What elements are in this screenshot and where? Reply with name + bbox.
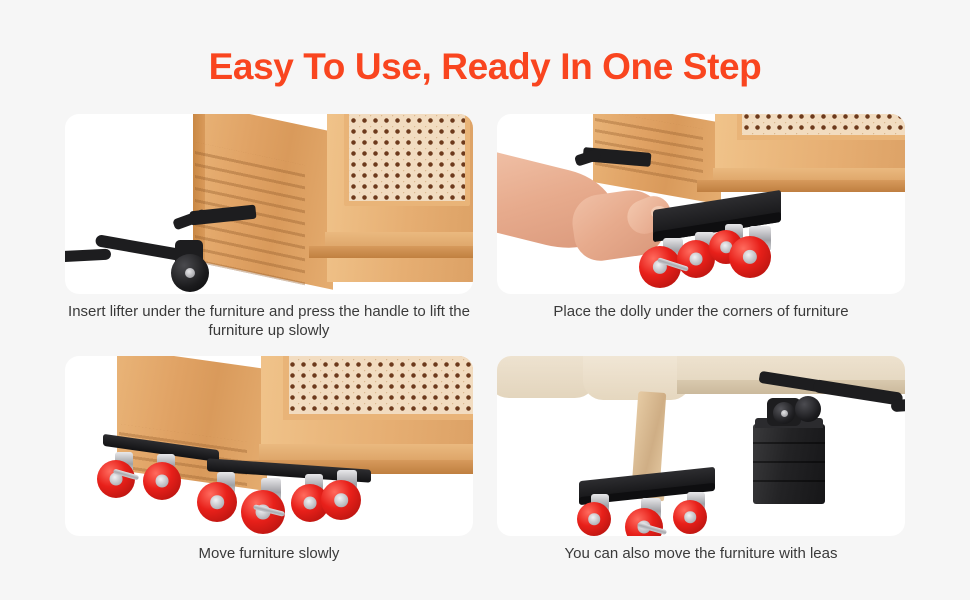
- panel-move-furniture-photo: [65, 356, 473, 536]
- panel-grid: Insert lifter under the furniture and pr…: [65, 114, 905, 536]
- page-title: Easy To Use, Ready In One Step: [0, 46, 970, 88]
- panel-place-dolly-photo: [497, 114, 905, 294]
- promo-page: Easy To Use, Ready In One Step: [0, 0, 970, 600]
- panel-place-dolly: Place the dolly under the corners of fur…: [497, 114, 905, 294]
- panel-move-with-legs-caption: You can also move the furniture with lea…: [497, 544, 905, 563]
- panel-insert-lifter-caption: Insert lifter under the furniture and pr…: [65, 302, 473, 340]
- panel-place-dolly-caption: Place the dolly under the corners of fur…: [497, 302, 905, 321]
- panel-move-furniture: Move furniture slowly: [65, 356, 473, 536]
- panel-move-furniture-caption: Move furniture slowly: [65, 544, 473, 563]
- panel-insert-lifter: Insert lifter under the furniture and pr…: [65, 114, 473, 294]
- panel-insert-lifter-photo: [65, 114, 473, 294]
- panel-move-with-legs-photo: [497, 356, 905, 536]
- panel-move-with-legs: You can also move the furniture with lea…: [497, 356, 905, 536]
